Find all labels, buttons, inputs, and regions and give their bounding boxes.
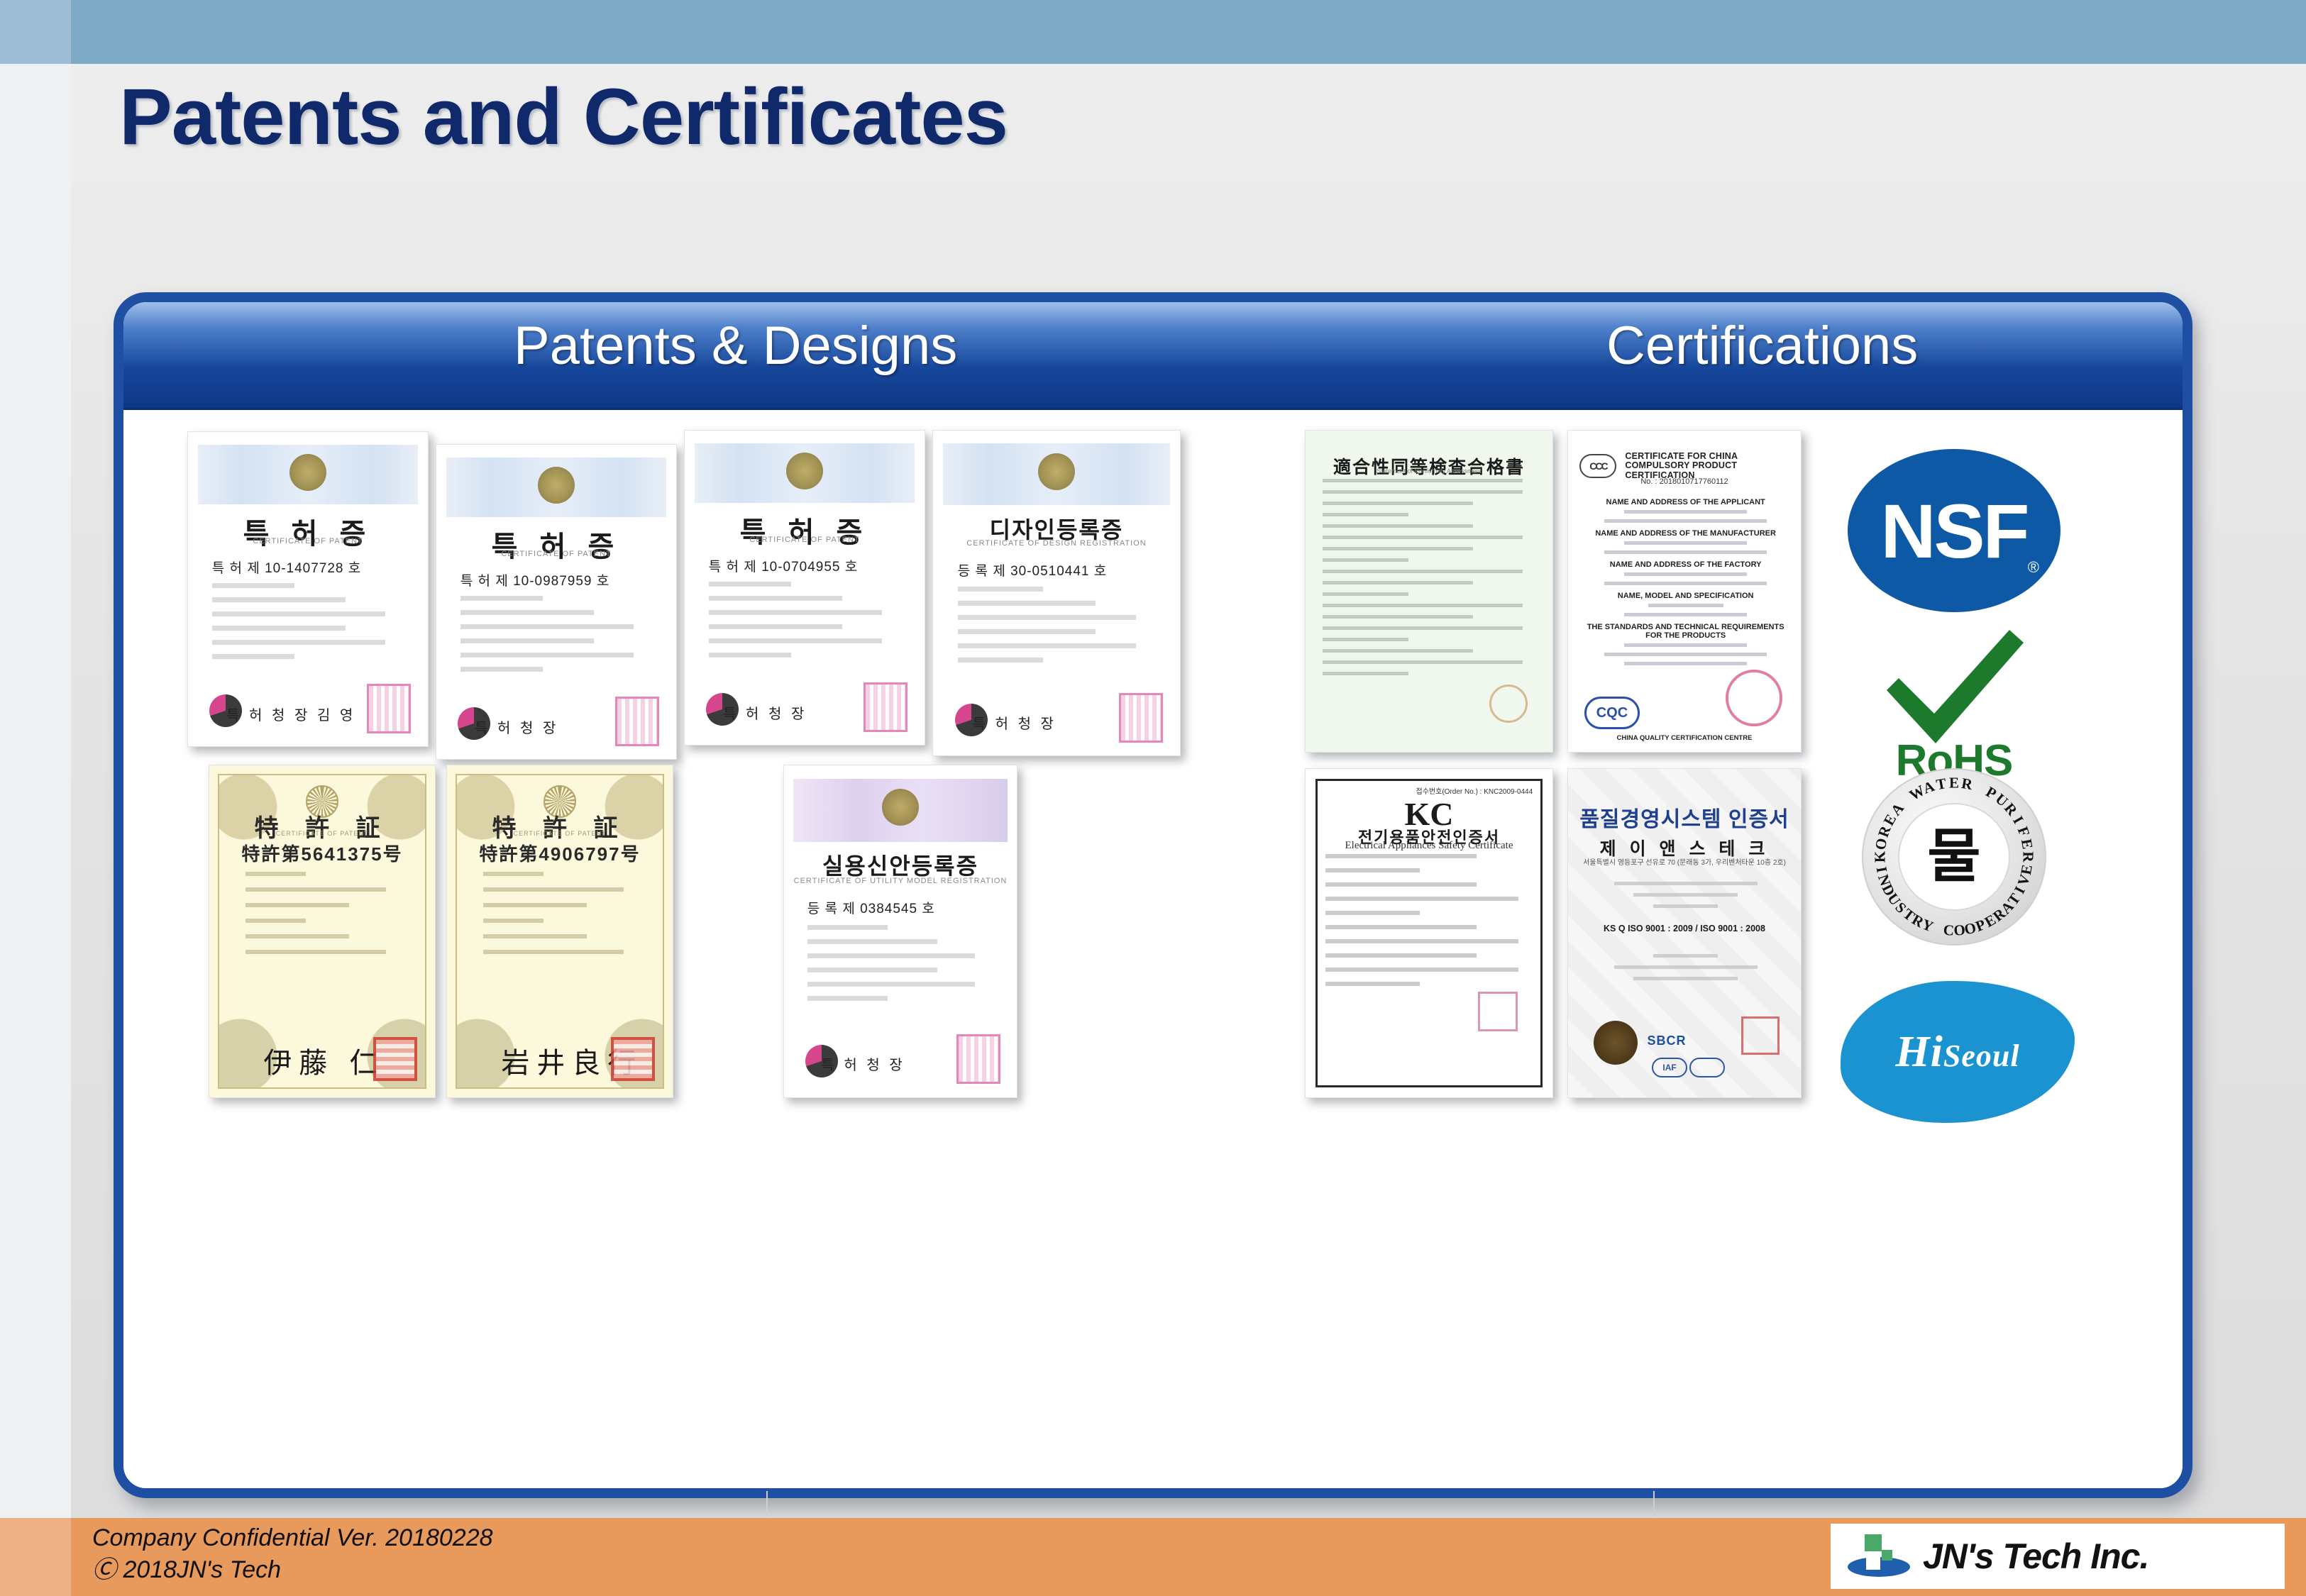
certificate-number: 특 허 제 10-0704955 호 xyxy=(709,556,858,575)
logo-green-square-small xyxy=(1882,1550,1892,1561)
certificate-body-text xyxy=(1323,479,1538,683)
slide-header-band xyxy=(0,0,2306,64)
official-seal-stamp-icon xyxy=(367,684,411,733)
certificate-title-en: CERTIFICATE OF PATENT xyxy=(436,550,676,558)
certificate-number: 특 허 제 10-1407728 호 xyxy=(212,558,361,577)
gold-medal-seal-icon xyxy=(1594,1021,1638,1065)
field-standards-label: THE STANDARDS AND TECHNICAL REQUIREMENTS… xyxy=(1587,623,1784,640)
logo-white-square-shape xyxy=(1866,1551,1880,1570)
slide-header-band-left-accent xyxy=(0,0,71,64)
section-title-certifications: Certifications xyxy=(1606,315,1918,377)
certificate-number: 특 허 제 10-0987959 호 xyxy=(460,570,609,589)
certificate-issuer: CHINA QUALITY CERTIFICATION CENTRE xyxy=(1568,734,1801,742)
certificate-body-text xyxy=(709,582,905,667)
korea-government-emblem-icon xyxy=(882,789,919,826)
content-panel: Patents & Designs Certifications 특 허 증 C… xyxy=(114,292,2192,1498)
document-japanese-patent-2[interactable]: 特 許 証 CERTIFICATE OF PATENT 特許第4906797号 … xyxy=(446,765,673,1098)
official-seal-stamp-icon xyxy=(1478,992,1518,1031)
slide-left-accent-strip xyxy=(0,0,71,1596)
hi-seoul-logo: HiSeoul xyxy=(1841,981,2075,1123)
certificate-number: No. : 2018010717760112 xyxy=(1568,477,1801,486)
cooperative-center-disc: 물 xyxy=(1898,803,2011,911)
field-spec-label: NAME, MODEL AND SPECIFICATION xyxy=(1587,592,1784,600)
kab-accreditation-icon xyxy=(1689,1058,1725,1077)
certificate-order-number: 접수번호(Order No.) : KNC2009-0444 xyxy=(1416,785,1533,796)
certificate-issuer: 특 허 청 장 xyxy=(973,712,1057,733)
certificate-issuer: 특 허 청 장 xyxy=(723,702,807,723)
certificate-title: CERTIFICATE FOR CHINA COMPULSORY PRODUCT… xyxy=(1625,452,1792,481)
certificate-title-kr: 품질경영시스템 인증서 xyxy=(1568,802,1801,833)
certificate-body-text xyxy=(958,587,1160,672)
certificate-title-jp: 適合性同等検査合格書 xyxy=(1306,453,1552,479)
logo-green-square-large xyxy=(1865,1534,1882,1551)
footer-line-1: Company Confidential Ver. 20180228 xyxy=(92,1522,493,1554)
certificate-title-en: CERTIFICATE OF PATENT xyxy=(685,536,925,544)
document-korean-patent-3[interactable]: 특 허 증 CERTIFICATE OF PATENT 특 허 제 10-070… xyxy=(684,430,925,746)
certificate-issuer: 특 허 청 장 xyxy=(821,1053,905,1074)
ccc-mark-icon: CCC xyxy=(1579,454,1616,478)
certificate-number: 特許第5641375号 xyxy=(209,840,435,866)
korea-government-emblem-icon xyxy=(1038,453,1075,490)
certificate-title-jp: 特 許 証 xyxy=(447,809,673,843)
official-seal-stamp-icon xyxy=(615,697,659,746)
certificate-standard: KS Q ISO 9001 : 2009 / ISO 9001 : 2008 xyxy=(1568,924,1801,933)
certificate-scope-text xyxy=(1596,946,1775,988)
nsf-logo: NSF ® xyxy=(1848,449,2060,612)
certificate-title-en: CERTIFICATE OF PATENT xyxy=(447,830,673,837)
certificate-signatory: 伊藤 仁 xyxy=(263,1040,385,1081)
iaf-accreditation-icon: IAF xyxy=(1652,1058,1687,1077)
panel-body: 특 허 증 CERTIFICATE OF PATENT 특 허 제 10-140… xyxy=(123,410,2183,1498)
certificate-number: 등 록 제 30-0510441 호 xyxy=(958,560,1107,580)
document-korean-patent-1[interactable]: 특 허 증 CERTIFICATE OF PATENT 특 허 제 10-140… xyxy=(187,431,429,747)
korea-government-emblem-icon xyxy=(538,467,575,504)
document-korean-patent-2[interactable]: 특 허 증 CERTIFICATE OF PATENT 특 허 제 10-098… xyxy=(436,444,677,760)
field-applicant-label: NAME AND ADDRESS OF THE APPLICANT xyxy=(1587,498,1784,506)
certificate-body-text xyxy=(1596,874,1775,916)
official-seal-stamp-icon xyxy=(1741,1016,1780,1055)
company-logo: JN's Tech Inc. xyxy=(1831,1524,2285,1589)
cqc-logo-icon: CQC xyxy=(1584,697,1640,729)
nsf-logo-text: NSF xyxy=(1881,487,2028,575)
document-korean-utility-model[interactable]: 실용신안등록증 CERTIFICATE OF UTILITY MODEL REG… xyxy=(783,765,1017,1098)
footer-line-2: Ⓒ 2018JN's Tech xyxy=(92,1554,493,1586)
jns-tech-logo-mark-icon xyxy=(1848,1534,1910,1578)
certificate-company-address: 서울특별시 영등포구 선유로 70 (문래동 3가, 우리벤처타운 10층 2호… xyxy=(1568,856,1801,867)
footer-tick-left xyxy=(766,1491,768,1517)
korea-government-emblem-icon xyxy=(289,454,326,491)
sbcr-logo-text: SBCR xyxy=(1648,1033,1687,1048)
footer-tick-right xyxy=(1653,1491,1655,1517)
certificate-title-en: CERTIFICATE OF PATENT xyxy=(188,537,428,545)
certificate-title-en: CERTIFICATE OF DESIGN REGISTRATION xyxy=(933,539,1180,548)
certificate-title-jp: 特 許 証 xyxy=(209,809,435,843)
certificate-number: 特許第4906797号 xyxy=(447,840,673,866)
official-seal-stamp-icon xyxy=(1726,670,1782,726)
certificate-body-text: NAME AND ADDRESS OF THE APPLICANT NAME A… xyxy=(1587,492,1784,671)
rohs-logo: RoHS xyxy=(1848,623,2060,786)
korea-water-purifier-cooperative-logo: KOREA WATER PURIFERINDUSTRY COOPERATIVE … xyxy=(1862,768,2046,946)
certificate-title-en: CERTIFICATE OF PATENT xyxy=(209,830,435,837)
official-seal-stamp-icon xyxy=(1489,685,1528,723)
document-japanese-patent-1[interactable]: 特 許 証 CERTIFICATE OF PATENT 特許第5641375号 … xyxy=(209,765,436,1098)
page-title: Patents and Certificates xyxy=(119,71,1008,162)
footer-confidential-text: Company Confidential Ver. 20180228 Ⓒ 201… xyxy=(92,1522,493,1586)
official-seal-stamp-icon xyxy=(373,1037,417,1081)
official-seal-stamp-icon xyxy=(1119,693,1163,743)
panel-header-bar: Patents & Designs Certifications xyxy=(123,302,2183,410)
document-iso-quality-certificate[interactable]: 품질경영시스템 인증서 제 이 앤 스 테 크 서울특별시 영등포구 선유로 7… xyxy=(1567,768,1802,1098)
certificate-title-en: Statement of Conformity Assessment xyxy=(1306,467,1552,475)
certificate-title-en: CERTIFICATE OF UTILITY MODEL REGISTRATIO… xyxy=(784,877,1017,885)
section-title-patents: Patents & Designs xyxy=(514,315,957,377)
certificate-body-text xyxy=(483,872,650,965)
hi-seoul-logo-text: HiSeoul xyxy=(1895,1027,2019,1077)
field-factory-label: NAME AND ADDRESS OF THE FACTORY xyxy=(1587,560,1784,569)
certificate-title-en: Electrical Appliances Safety Certificate xyxy=(1306,840,1552,852)
official-seal-stamp-icon xyxy=(611,1037,655,1081)
field-manufacturer-label: NAME AND ADDRESS OF THE MANUFACTURER xyxy=(1587,529,1784,538)
certificate-issuer: 특 허 청 장 xyxy=(475,716,558,737)
certificate-issuer: 특 허 청 장 김 영 xyxy=(226,704,355,724)
water-character-glyph: 물 xyxy=(1927,828,1980,886)
korea-government-emblem-icon xyxy=(786,453,823,489)
certificate-number: 등 록 제 0384545 호 xyxy=(807,898,935,917)
certificate-body-text xyxy=(1325,854,1535,996)
certificate-body-text xyxy=(246,872,412,965)
official-seal-stamp-icon xyxy=(956,1034,1000,1084)
certificate-body-text xyxy=(212,583,409,668)
certificate-body-text xyxy=(807,925,998,1010)
company-logo-text: JN's Tech Inc. xyxy=(1923,1536,2148,1577)
document-kc-safety-certificate[interactable]: 접수번호(Order No.) : KNC2009-0444 KC 전기용품안전… xyxy=(1305,768,1553,1098)
certificate-body-text xyxy=(460,596,657,681)
document-korean-design-registration[interactable]: 디자인등록증 CERTIFICATE OF DESIGN REGISTRATIO… xyxy=(932,430,1181,756)
document-japan-conformity-certificate[interactable]: 適合性同等検査合格書 Statement of Conformity Asses… xyxy=(1305,430,1553,753)
green-checkmark-icon xyxy=(1848,623,2060,747)
document-ccc-certificate[interactable]: CCC CERTIFICATE FOR CHINA COMPULSORY PRO… xyxy=(1567,430,1802,753)
registered-trademark-icon: ® xyxy=(2028,558,2039,577)
footer-band-left-accent xyxy=(0,1518,71,1596)
official-seal-stamp-icon xyxy=(864,682,907,732)
